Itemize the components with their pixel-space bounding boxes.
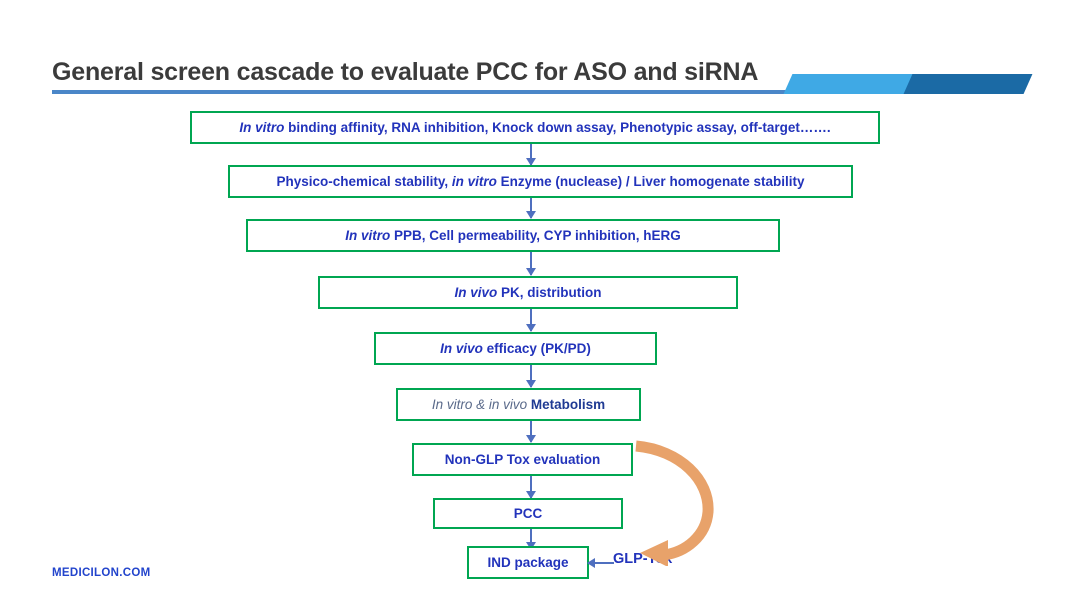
flow-box-ind-package[interactable]: IND package [467,546,589,579]
curved-feedback-arrow-icon [628,436,738,566]
connector-arrow-2 [530,198,532,218]
flow-box-label: IND package [487,555,568,570]
connector-arrow-7 [530,476,532,498]
connector-arrow-3 [530,252,532,275]
flow-box-label: In vivo PK, distribution [454,285,601,300]
flow-box-label: Non-GLP Tox evaluation [445,452,601,467]
flow-box-in-vivo-pk[interactable]: In vivo PK, distribution [318,276,738,309]
title-underline-rule [52,90,790,94]
flow-box-physico-chemical-stability[interactable]: Physico-chemical stability, in vitro Enz… [228,165,853,198]
decorative-parallelogram-dark [904,74,1033,94]
flow-box-label: PCC [514,506,543,521]
flow-box-in-vitro-ppb[interactable]: In vitro PPB, Cell permeability, CYP inh… [246,219,780,252]
flow-box-non-glp-tox-evaluation[interactable]: Non-GLP Tox evaluation [412,443,633,476]
flow-box-label: In vivo efficacy (PK/PD) [440,341,591,356]
connector-arrow-5 [530,365,532,387]
flow-box-label: In vitro binding affinity, RNA inhibitio… [239,120,830,135]
flow-box-in-vivo-efficacy[interactable]: In vivo efficacy (PK/PD) [374,332,657,365]
flow-box-metabolism[interactable]: In vitro & in vivo Metabolism [396,388,641,421]
connector-arrow-4 [530,309,532,331]
connector-arrow-1 [530,144,532,165]
flow-box-in-vitro-binding-affinity[interactable]: In vitro binding affinity, RNA inhibitio… [190,111,880,144]
connector-arrow-6 [530,421,532,442]
flow-box-label: In vitro PPB, Cell permeability, CYP inh… [345,228,681,243]
footer-logo: MEDICILON.COM [52,567,150,579]
glp-tox-arrow-icon [588,562,614,564]
flow-box-label: In vitro & in vivo Metabolism [432,397,605,412]
glp-tox-label: GLP-Tox [613,551,672,567]
flow-box-pcc[interactable]: PCC [433,498,623,529]
page-title: General screen cascade to evaluate PCC f… [52,58,758,87]
flow-box-label: Physico-chemical stability, in vitro Enz… [277,174,805,189]
